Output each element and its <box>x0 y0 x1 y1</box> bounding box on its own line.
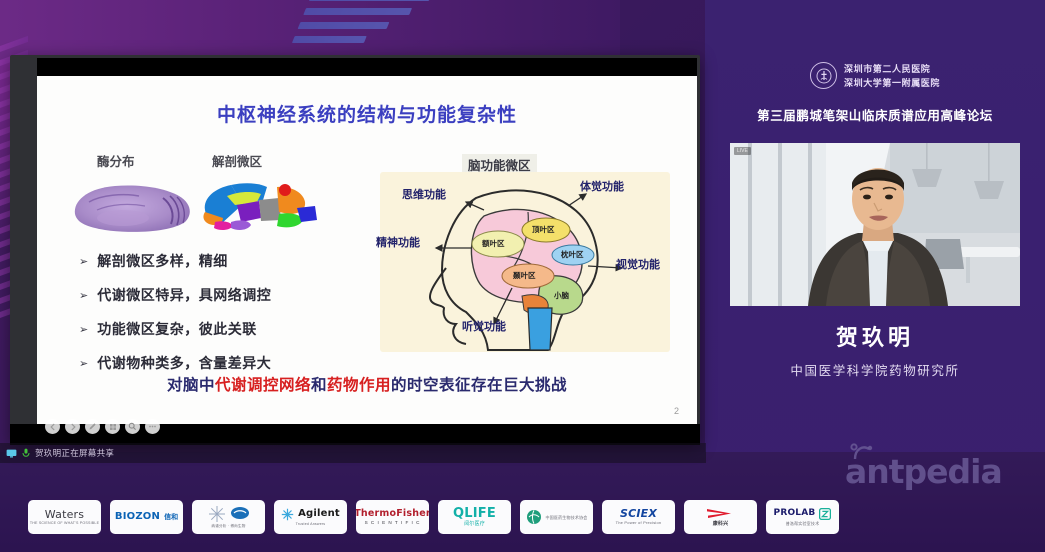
monitor-icon <box>6 449 17 458</box>
region-cerebellum: 小脑 <box>554 290 569 301</box>
bullet-arrow-icon: ➢ <box>79 323 88 336</box>
sponsor-logo-dual-cn[interactable]: 纳谱分析 · 博尚生物 <box>192 500 265 534</box>
microphone-icon <box>22 448 30 458</box>
pen-icon <box>88 422 97 431</box>
decorative-stripes-top <box>288 0 431 52</box>
bullet-text: 功能微区复杂，彼此关联 <box>97 319 257 339</box>
speaker-name: 贺玖明 <box>705 320 1045 352</box>
presenter-toolbar[interactable] <box>45 419 160 434</box>
speaker-video-frame <box>730 143 1020 306</box>
sponsor-name: QLIFE <box>453 507 496 520</box>
share-status-text: 贺玖明正在屏幕共享 <box>35 447 114 459</box>
presentation-slide[interactable]: 中枢神经系统的结构与功能复杂性 酶分布 解剖微区 <box>37 76 697 424</box>
sponsor-cn-name: 康科兴 <box>713 522 729 528</box>
sponsor-cn-name: 中国医药生物技术协会 <box>546 516 588 520</box>
speaker-organization: 中国医学科学院药物研究所 <box>705 360 1045 379</box>
magnifier-icon <box>128 422 137 431</box>
sponsor-cn-name: 信和 <box>164 512 178 522</box>
sponsor-logo-qlife[interactable]: QLIFE 阅尔医疗 <box>438 500 511 534</box>
bullet-arrow-icon: ➢ <box>79 357 88 370</box>
label-enzyme-distribution: 酶分布 <box>97 151 135 170</box>
all-slides-button[interactable] <box>105 419 120 434</box>
callout-thinking: 思维功能 <box>402 186 446 202</box>
zoom-tool-button[interactable] <box>125 419 140 434</box>
more-options-button[interactable] <box>145 419 160 434</box>
caption-highlight1: 代谢调控网络 <box>215 376 311 394</box>
sponsor-name: PROLAB <box>774 509 816 518</box>
caption-part3: 的时空表征存在巨大挑战 <box>391 376 567 394</box>
blue-badge-icon <box>230 506 250 522</box>
region-parietal: 顶叶区 <box>532 224 555 235</box>
webinar-screenshot: 中枢神经系统的结构与功能复杂性 酶分布 解剖微区 <box>0 0 1045 552</box>
sponsor-name: SCIEX <box>620 508 657 519</box>
slide-bullet-list: ➢ 解剖微区多样，精细 ➢ 代谢微区特异，具网络调控 ➢ 功能微区复杂，彼此关联… <box>79 251 379 387</box>
caption-part1: 对脑中 <box>167 376 215 394</box>
list-item: ➢ 代谢微区特异，具网络调控 <box>79 285 379 305</box>
hospital-emblem-icon <box>810 62 837 89</box>
chevron-right-icon <box>69 423 77 431</box>
ellipsis-icon <box>148 422 157 431</box>
list-item: ➢ 代谢物种类多，含量差异大 <box>79 353 379 373</box>
snowflake-icon <box>208 505 226 523</box>
sponsor-tagline: 纳谱分析 · 博尚生物 <box>211 525 245 529</box>
caption-highlight2: 药物作用 <box>327 376 391 394</box>
sponsor-logo-kangpanxing[interactable]: 康科兴 <box>684 500 757 534</box>
sponsor-logo-sciex[interactable]: SCIEX The Power of Precision <box>602 500 675 534</box>
chevron-left-icon <box>49 423 57 431</box>
callout-mental: 精神功能 <box>376 234 420 250</box>
sponsor-name: Agilent <box>298 509 340 519</box>
callout-auditory: 听觉功能 <box>462 318 506 334</box>
callout-visual: 视觉功能 <box>616 256 660 272</box>
sponsor-logo-biozon[interactable]: BIOZON 信和 <box>110 500 183 534</box>
antpedia-watermark: antpedia <box>845 452 1002 491</box>
sponsor-logo-waters[interactable]: Waters THE SCIENCE OF WHAT'S POSSIBLE <box>28 500 101 534</box>
sponsor-tagline: S C I E N T I F I C <box>365 520 421 525</box>
screen-share-player[interactable]: 中枢神经系统的结构与功能复杂性 酶分布 解剖微区 <box>10 55 700 445</box>
slide-letterbox-top <box>37 58 697 76</box>
callout-somatosensory: 体觉功能 <box>580 178 624 194</box>
region-temporal: 颞叶区 <box>513 270 536 281</box>
previous-slide-button[interactable] <box>45 419 60 434</box>
sponsor-logo-strip: Waters THE SCIENCE OF WHAT'S POSSIBLE BI… <box>28 500 839 534</box>
enzyme-brain-image <box>67 176 197 236</box>
sponsor-logo-prolab[interactable]: PROLAB 普洛帮实验室技术 <box>766 500 839 534</box>
sponsor-tagline: Trusted Answers <box>296 523 326 527</box>
sponsor-name: Waters <box>45 509 84 520</box>
sponsor-logo-agilent[interactable]: Agilent Trusted Answers <box>274 500 347 534</box>
slide-caption: 对脑中代谢调控网络和药物作用的时空表征存在巨大挑战 <box>37 373 697 395</box>
bullet-arrow-icon: ➢ <box>79 255 88 268</box>
pen-tool-button[interactable] <box>85 419 100 434</box>
sponsor-tagline: 普洛帮实验室技术 <box>786 522 820 526</box>
hospital-name-block: 深圳市第二人民医院 深圳大学第一附属医院 <box>844 62 940 89</box>
bullet-text: 代谢微区特异，具网络调控 <box>97 285 271 305</box>
camera-live-badge: LIVE <box>734 147 751 155</box>
brain-function-diagram: 思维功能 体觉功能 精神功能 视觉功能 听觉功能 额叶区 顶叶区 枕叶区 颞叶区… <box>380 172 670 352</box>
sponsor-logo-thermofisher[interactable]: ThermoFisher S C I E N T I F I C <box>356 500 429 534</box>
hospital-name-line2: 深圳大学第一附属医院 <box>844 76 940 89</box>
caption-part2: 和 <box>311 376 327 394</box>
region-frontal: 额叶区 <box>482 238 505 249</box>
hospital-logo: 深圳市第二人民医院 深圳大学第一附属医院 <box>810 62 940 89</box>
share-status-bar: 贺玖明正在屏幕共享 <box>0 443 706 463</box>
bullet-arrow-icon: ➢ <box>79 289 88 302</box>
label-anatomical-microregion: 解剖微区 <box>212 151 262 170</box>
right-info-panel: 深圳市第二人民医院 深圳大学第一附属医院 第三届鹏城笔架山临床质谱应用高峰论坛 <box>705 0 1045 470</box>
list-item: ➢ 解剖微区多样，精细 <box>79 251 379 271</box>
bullet-text: 解剖微区多样，精细 <box>97 251 228 271</box>
antpedia-wordmark: antpedia <box>845 452 1002 491</box>
slide-page-number: 2 <box>674 406 679 416</box>
forum-title: 第三届鹏城笔架山临床质谱应用高峰论坛 <box>705 105 1045 124</box>
emblem-inner-icon <box>815 68 831 84</box>
sponsor-logo-green-cn[interactable]: 中国医药生物技术协会 <box>520 500 593 534</box>
sponsor-tagline: THE SCIENCE OF WHAT'S POSSIBLE <box>30 522 99 526</box>
bullet-text: 代谢物种类多，含量差异大 <box>97 353 271 373</box>
red-chevron-icon <box>705 507 737 520</box>
sponsor-cn-name: 阅尔医疗 <box>464 522 485 528</box>
sponsor-name: BIOZON <box>115 512 160 522</box>
grid-icon <box>109 423 117 431</box>
next-slide-button[interactable] <box>65 419 80 434</box>
anatomical-brain-image <box>197 174 317 236</box>
sponsor-tagline: The Power of Precision <box>616 521 662 525</box>
region-occipital: 枕叶区 <box>561 249 584 260</box>
list-item: ➢ 功能微区复杂，彼此关联 <box>79 319 379 339</box>
prolab-mark-icon <box>819 508 831 520</box>
hospital-name-line1: 深圳市第二人民医院 <box>844 62 940 75</box>
sponsor-name: ThermoFisher <box>356 509 429 519</box>
green-globe-icon <box>526 509 542 525</box>
slide-title: 中枢神经系统的结构与功能复杂性 <box>37 100 697 127</box>
speaker-camera-feed[interactable]: LIVE <box>730 143 1020 306</box>
agilent-star-icon <box>281 508 294 521</box>
